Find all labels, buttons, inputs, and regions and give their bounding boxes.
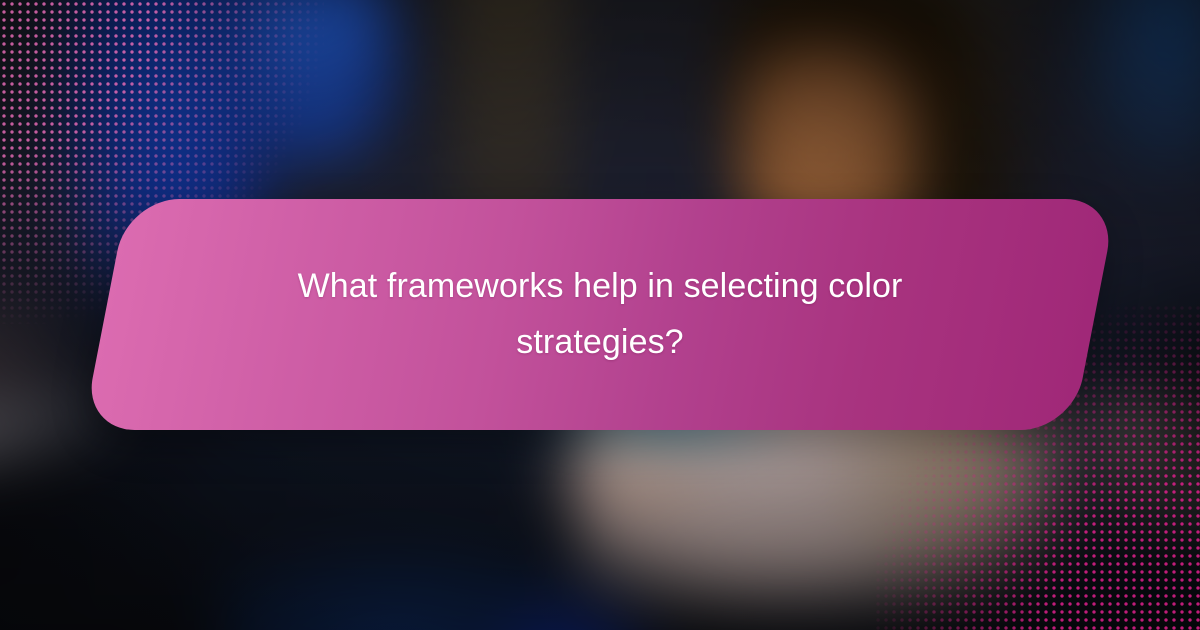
question-card: What frameworks help in selecting color … bbox=[105, 199, 1095, 430]
question-text: What frameworks help in selecting color … bbox=[255, 259, 945, 369]
social-card-canvas: What frameworks help in selecting color … bbox=[0, 0, 1200, 630]
background-blue-bottom-glow bbox=[494, 585, 674, 630]
background-dark-right-edge bbox=[1077, 267, 1200, 585]
background-blue-screen-highlight bbox=[250, 0, 377, 55]
background-blue-screen-right bbox=[1066, 0, 1200, 193]
question-card-content: What frameworks help in selecting color … bbox=[105, 199, 1095, 430]
